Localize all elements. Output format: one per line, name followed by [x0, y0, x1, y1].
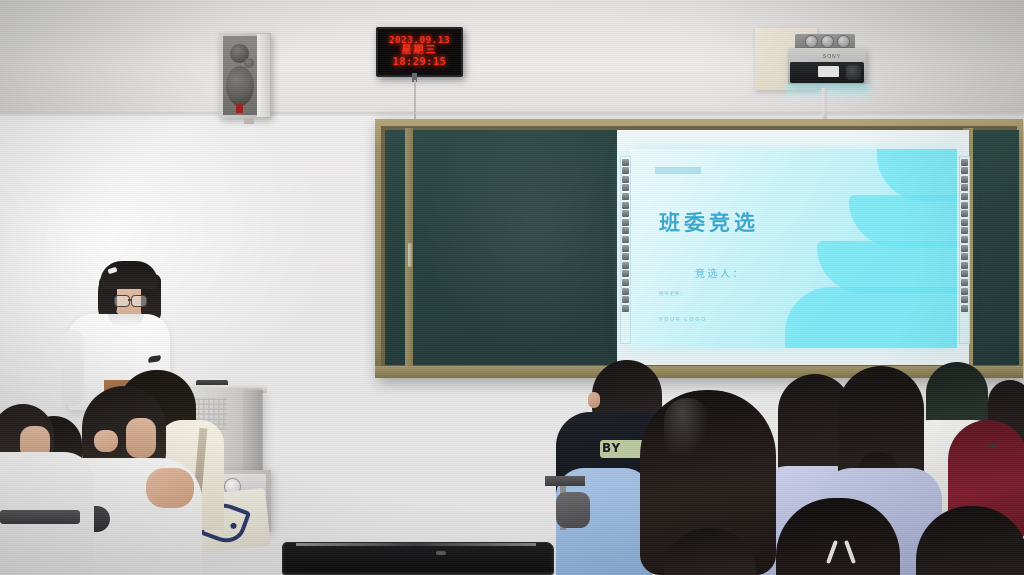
toolbar-icon[interactable] — [622, 227, 629, 234]
toolbar-icon[interactable] — [961, 202, 968, 209]
toolbar-icon[interactable] — [622, 219, 629, 226]
slide-wave-shape — [817, 241, 957, 293]
blackboard-right-panel — [973, 130, 1019, 365]
slide-title: 班委竞选 — [659, 207, 759, 237]
toolbar-icon[interactable] — [961, 227, 968, 234]
projection-toolbar-right[interactable] — [959, 156, 970, 344]
toolbar-icon[interactable] — [622, 279, 629, 286]
toolbar-icon[interactable] — [961, 253, 968, 260]
toolbar-icon[interactable] — [622, 202, 629, 209]
slide-note-text: 指导老师： — [659, 291, 686, 297]
speaker-logo — [236, 104, 243, 113]
toolbar-icon[interactable] — [622, 288, 629, 295]
projector-lens-icon — [846, 65, 861, 80]
toolbar-icon[interactable] — [961, 305, 968, 312]
lectern-shadow — [243, 390, 263, 480]
toolbar-icon[interactable] — [622, 167, 629, 174]
toolbar-icon[interactable] — [961, 219, 968, 226]
student-face — [126, 418, 156, 458]
student-hand — [94, 430, 118, 452]
toolbar-icon[interactable] — [961, 279, 968, 286]
speaker-woofer-icon — [226, 66, 254, 106]
projector-adjust-knob-icon — [837, 35, 850, 48]
led-wall-clock: 2023.09.13 星期三 18:29:15 — [376, 27, 463, 77]
speaker-side-panel — [257, 34, 270, 117]
presenter-arm — [62, 330, 84, 406]
projection-toolbar-left[interactable] — [620, 156, 631, 344]
projector-adjust-knob-icon — [821, 35, 834, 48]
toolbar-icon[interactable] — [622, 305, 629, 312]
slide-subtitle: 竞选人： — [695, 265, 745, 280]
projector-label — [818, 66, 839, 77]
presenter-glasses-icon — [114, 295, 130, 307]
hair-highlight — [664, 398, 710, 458]
toolbar-icon[interactable] — [622, 176, 629, 183]
blackboard-slide-handle[interactable] — [408, 243, 412, 267]
blackboard-chalk-rail — [375, 366, 1023, 378]
slide-logo-placeholder: YOUR LOGO — [659, 317, 707, 323]
toolbar-icon[interactable] — [961, 210, 968, 217]
slide-header-accent — [655, 167, 701, 174]
blackboard-left-panel — [385, 130, 405, 365]
classroom-desk — [545, 476, 585, 486]
classroom-scene: 2023.09.13 星期三 18:29:15 SONY 班委竞选 竞选人： 指… — [0, 0, 1024, 575]
toolbar-icon[interactable] — [961, 184, 968, 191]
toolbar-icon[interactable] — [622, 210, 629, 217]
toolbar-icon[interactable] — [622, 193, 629, 200]
led-time-text: 18:29:15 — [393, 57, 447, 68]
toolbar-icon[interactable] — [961, 270, 968, 277]
toolbar-icon[interactable] — [961, 236, 968, 243]
wall-shadow-left — [0, 0, 230, 130]
shirt-print-text: BY — [602, 441, 621, 455]
toolbar-icon[interactable] — [961, 296, 968, 303]
slide-wave-shape — [785, 287, 957, 348]
toolbar-icon[interactable] — [622, 296, 629, 303]
toolbar-icon[interactable] — [961, 193, 968, 200]
toolbar-icon[interactable] — [622, 262, 629, 269]
hair-clip-icon — [826, 540, 860, 566]
classroom-chair — [556, 492, 590, 528]
toolbar-icon[interactable] — [961, 288, 968, 295]
toolbar-icon[interactable] — [961, 167, 968, 174]
case-highlight — [296, 543, 536, 546]
toolbar-icon[interactable] — [961, 159, 968, 166]
toolbar-icon[interactable] — [622, 159, 629, 166]
projector-light-beam — [786, 84, 870, 102]
presenter-hair-front — [100, 261, 158, 289]
student-arm — [146, 468, 194, 508]
projector-adjust-knob-icon — [805, 35, 818, 48]
presenter-glasses-bridge — [128, 299, 132, 301]
student-ear — [588, 392, 600, 408]
toolbar-icon[interactable] — [961, 262, 968, 269]
blackboard-texture — [413, 130, 617, 365]
toolbar-icon[interactable] — [622, 184, 629, 191]
presenter-glasses-icon — [131, 295, 147, 307]
hair-accessory — [984, 440, 998, 450]
toolbar-icon[interactable] — [622, 253, 629, 260]
toolbar-icon[interactable] — [622, 270, 629, 277]
toolbar-icon[interactable] — [961, 176, 968, 183]
toolbar-icon[interactable] — [622, 236, 629, 243]
projector-brand-text: SONY — [812, 54, 852, 61]
speaker-mid-driver-icon — [244, 58, 254, 68]
classroom-desk — [0, 510, 80, 524]
presentation-slide: 班委竞选 竞选人： 指导老师： YOUR LOGO — [629, 149, 957, 348]
toolbar-icon[interactable] — [622, 245, 629, 252]
toolbar-icon[interactable] — [961, 245, 968, 252]
speaker-bracket — [244, 118, 254, 124]
case-tag — [436, 551, 446, 555]
instrument-case — [282, 542, 554, 575]
